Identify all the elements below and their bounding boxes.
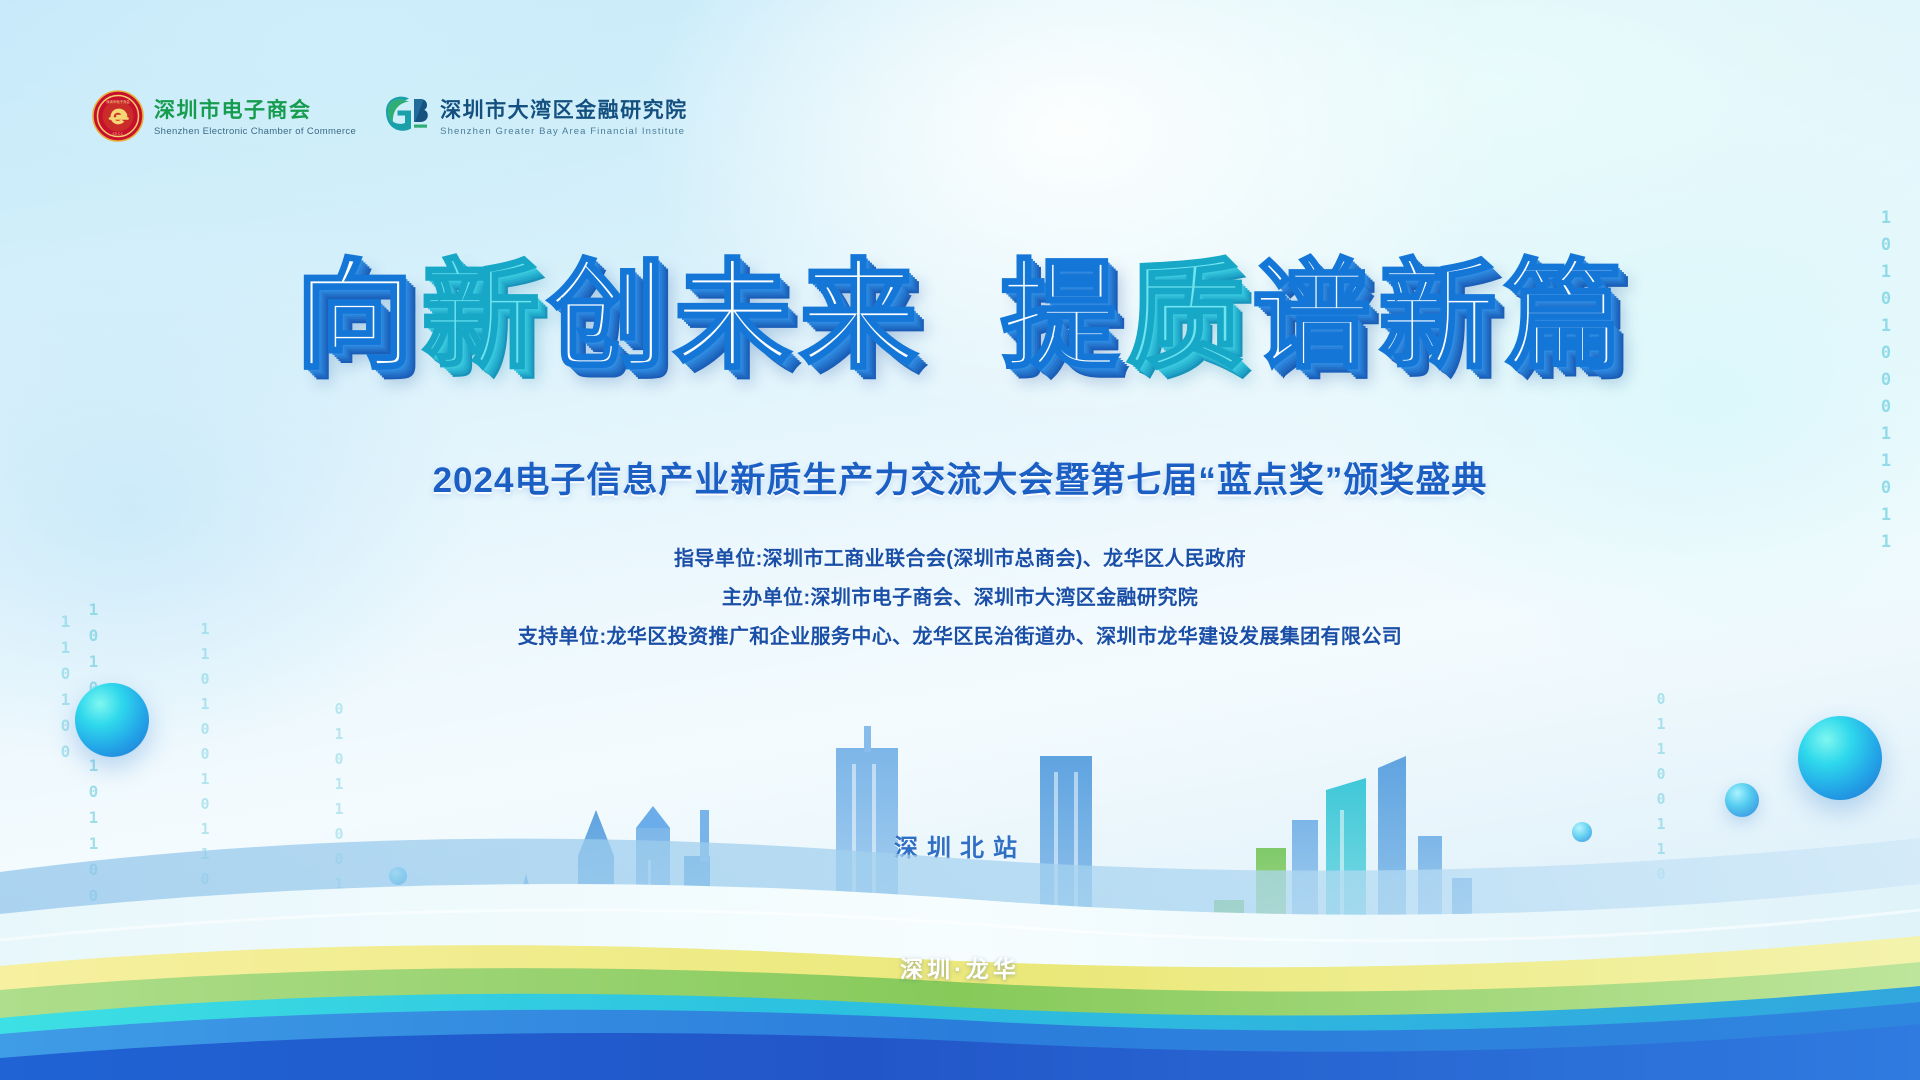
svg-text:SECC: SECC — [113, 132, 124, 136]
headline-char: 谱 — [1249, 258, 1375, 376]
svg-text:深圳市电子商会: 深圳市电子商会 — [106, 99, 130, 104]
banner-canvas: 1010100011011011001101101001010101011001… — [0, 0, 1920, 1080]
wave-band-decoration — [0, 780, 1920, 1080]
headline-char: 新 — [1376, 258, 1502, 376]
secc-logo-text: 深圳市电子商会 Shenzhen Electronic Chamber of C… — [154, 99, 356, 138]
seal-emblem-icon: 深圳市电子商会 SECC — [92, 90, 144, 147]
headline-char: 篇 — [1502, 258, 1628, 376]
headline-char: 提 — [997, 258, 1123, 376]
gbi-monogram-icon — [384, 96, 430, 141]
headline-group-2: 提质谱新篇 — [997, 258, 1627, 376]
gbi-logo-text: 深圳市大湾区金融研究院 Shenzhen Greater Bay Area Fi… — [440, 99, 688, 138]
headline-char: 创 — [545, 258, 671, 376]
organizer-line-support: 支持单位:龙华区投资推广和企业服务中心、龙华区民治街道办、深圳市龙华建设发展集团… — [0, 618, 1920, 657]
gbi-name-en: Shenzhen Greater Bay Area Financial Inst… — [440, 126, 688, 137]
headline-char: 未 — [671, 258, 797, 376]
location-label: 深圳·龙华 — [0, 950, 1920, 984]
event-subtitle: 2024电子信息产业新质生产力交流大会暨第七届“蓝点奖”颁奖盛典 — [0, 452, 1920, 503]
headline-char: 新 — [418, 258, 544, 376]
page-title: 向新创未来 提质谱新篇 — [0, 258, 1920, 376]
headline-char: 来 — [797, 258, 923, 376]
secc-name-en: Shenzhen Electronic Chamber of Commerce — [154, 126, 356, 137]
secc-name-cn: 深圳市电子商会 — [154, 99, 356, 123]
organizer-line-guidance: 指导单位:深圳市工商业联合会(深圳市总商会)、龙华区人民政府 — [0, 540, 1920, 579]
gbi-name-cn: 深圳市大湾区金融研究院 — [440, 99, 688, 123]
organizer-list: 指导单位:深圳市工商业联合会(深圳市总商会)、龙华区人民政府 主办单位:深圳市电… — [0, 540, 1920, 657]
headline-char: 质 — [1123, 258, 1249, 376]
organizer-line-host: 主办单位:深圳市电子商会、深圳市大湾区金融研究院 — [0, 579, 1920, 618]
headline-group-1: 向新创未来 — [292, 258, 922, 376]
headline-char: 向 — [292, 258, 418, 376]
sponsor-logo-bar: 深圳市电子商会 SECC 深圳市电子商会 Shenzhen Electronic… — [92, 90, 688, 147]
logo-shenzhen-greater-bay-area-financial-institute: 深圳市大湾区金融研究院 Shenzhen Greater Bay Area Fi… — [384, 96, 688, 141]
logo-shenzhen-electronic-chamber-of-commerce: 深圳市电子商会 SECC 深圳市电子商会 Shenzhen Electronic… — [92, 90, 356, 147]
